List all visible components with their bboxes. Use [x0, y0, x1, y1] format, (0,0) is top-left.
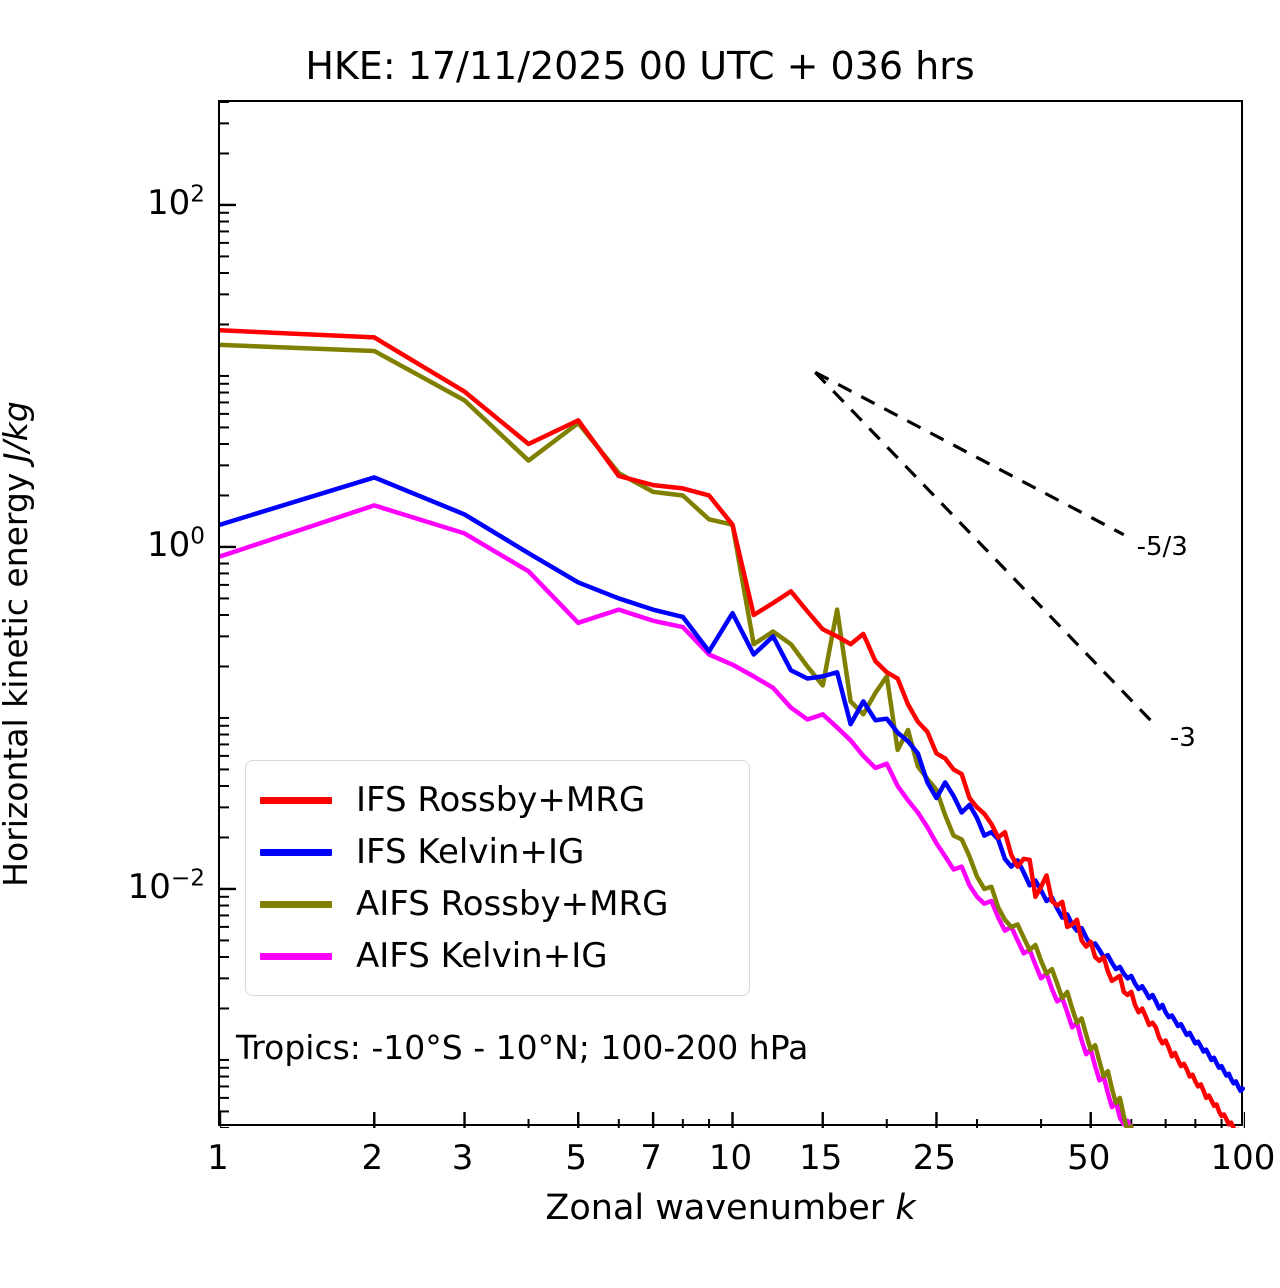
legend-color-swatch [260, 849, 332, 856]
legend-label: IFS Rossby+MRG [356, 780, 645, 820]
x-tick-label: 15 [799, 1138, 842, 1178]
x-axis-label-symbol: k [895, 1188, 915, 1228]
chart-figure: HKE: 17/11/2025 00 UTC + 036 hrs Horizon… [0, 0, 1280, 1288]
x-tick-label: 50 [1067, 1138, 1110, 1178]
legend-label: IFS Kelvin+IG [356, 832, 584, 872]
legend-label: AIFS Rossby+MRG [356, 884, 668, 924]
legend: IFS Rossby+MRGIFS Kelvin+IGAIFS Rossby+M… [245, 760, 750, 996]
page-title: HKE: 17/11/2025 00 UTC + 036 hrs [0, 44, 1280, 88]
legend-item[interactable]: IFS Kelvin+IG [260, 826, 733, 878]
x-tick-label: 1 [207, 1138, 229, 1178]
x-tick-label: 7 [640, 1138, 662, 1178]
x-tick-label: 2 [361, 1138, 383, 1178]
legend-item[interactable]: IFS Rossby+MRG [260, 774, 733, 826]
legend-color-swatch [260, 901, 332, 908]
x-tick-label: 100 [1211, 1138, 1276, 1178]
y-tick-label: 102 [147, 183, 205, 223]
x-tick-label: 3 [452, 1138, 474, 1178]
y-tick-label: 10−2 [128, 867, 205, 907]
y-axis-label-units: J/kg [0, 401, 35, 462]
series-line [220, 345, 1131, 1128]
series-line [220, 330, 1245, 1128]
slope-label-three: -3 [1170, 723, 1196, 753]
y-tick-label: 100 [147, 525, 205, 565]
legend-item[interactable]: AIFS Rossby+MRG [260, 878, 733, 930]
legend-color-swatch [260, 953, 332, 960]
y-axis-label-container: Horizontal kinetic energy J/kg [0, 0, 45, 1288]
x-axis-label-text: Zonal wavenumber [545, 1188, 895, 1228]
y-axis-label-text: Horizontal kinetic energy [0, 462, 35, 887]
x-axis-label: Zonal wavenumber k [218, 1188, 1243, 1228]
legend-label: AIFS Kelvin+IG [356, 936, 608, 976]
x-tick-label: 10 [709, 1138, 752, 1178]
legend-color-swatch [260, 797, 332, 804]
reference-slope-lines [815, 372, 1156, 725]
x-tick-label: 5 [565, 1138, 587, 1178]
x-tick-label: 25 [913, 1138, 956, 1178]
legend-item[interactable]: AIFS Kelvin+IG [260, 930, 733, 982]
region-annotation: Tropics: -10°S - 10°N; 100-200 hPa [236, 1028, 808, 1067]
y-axis-label: Horizontal kinetic energy J/kg [0, 401, 35, 887]
slope-label-five-thirds: -5/3 [1137, 532, 1188, 562]
